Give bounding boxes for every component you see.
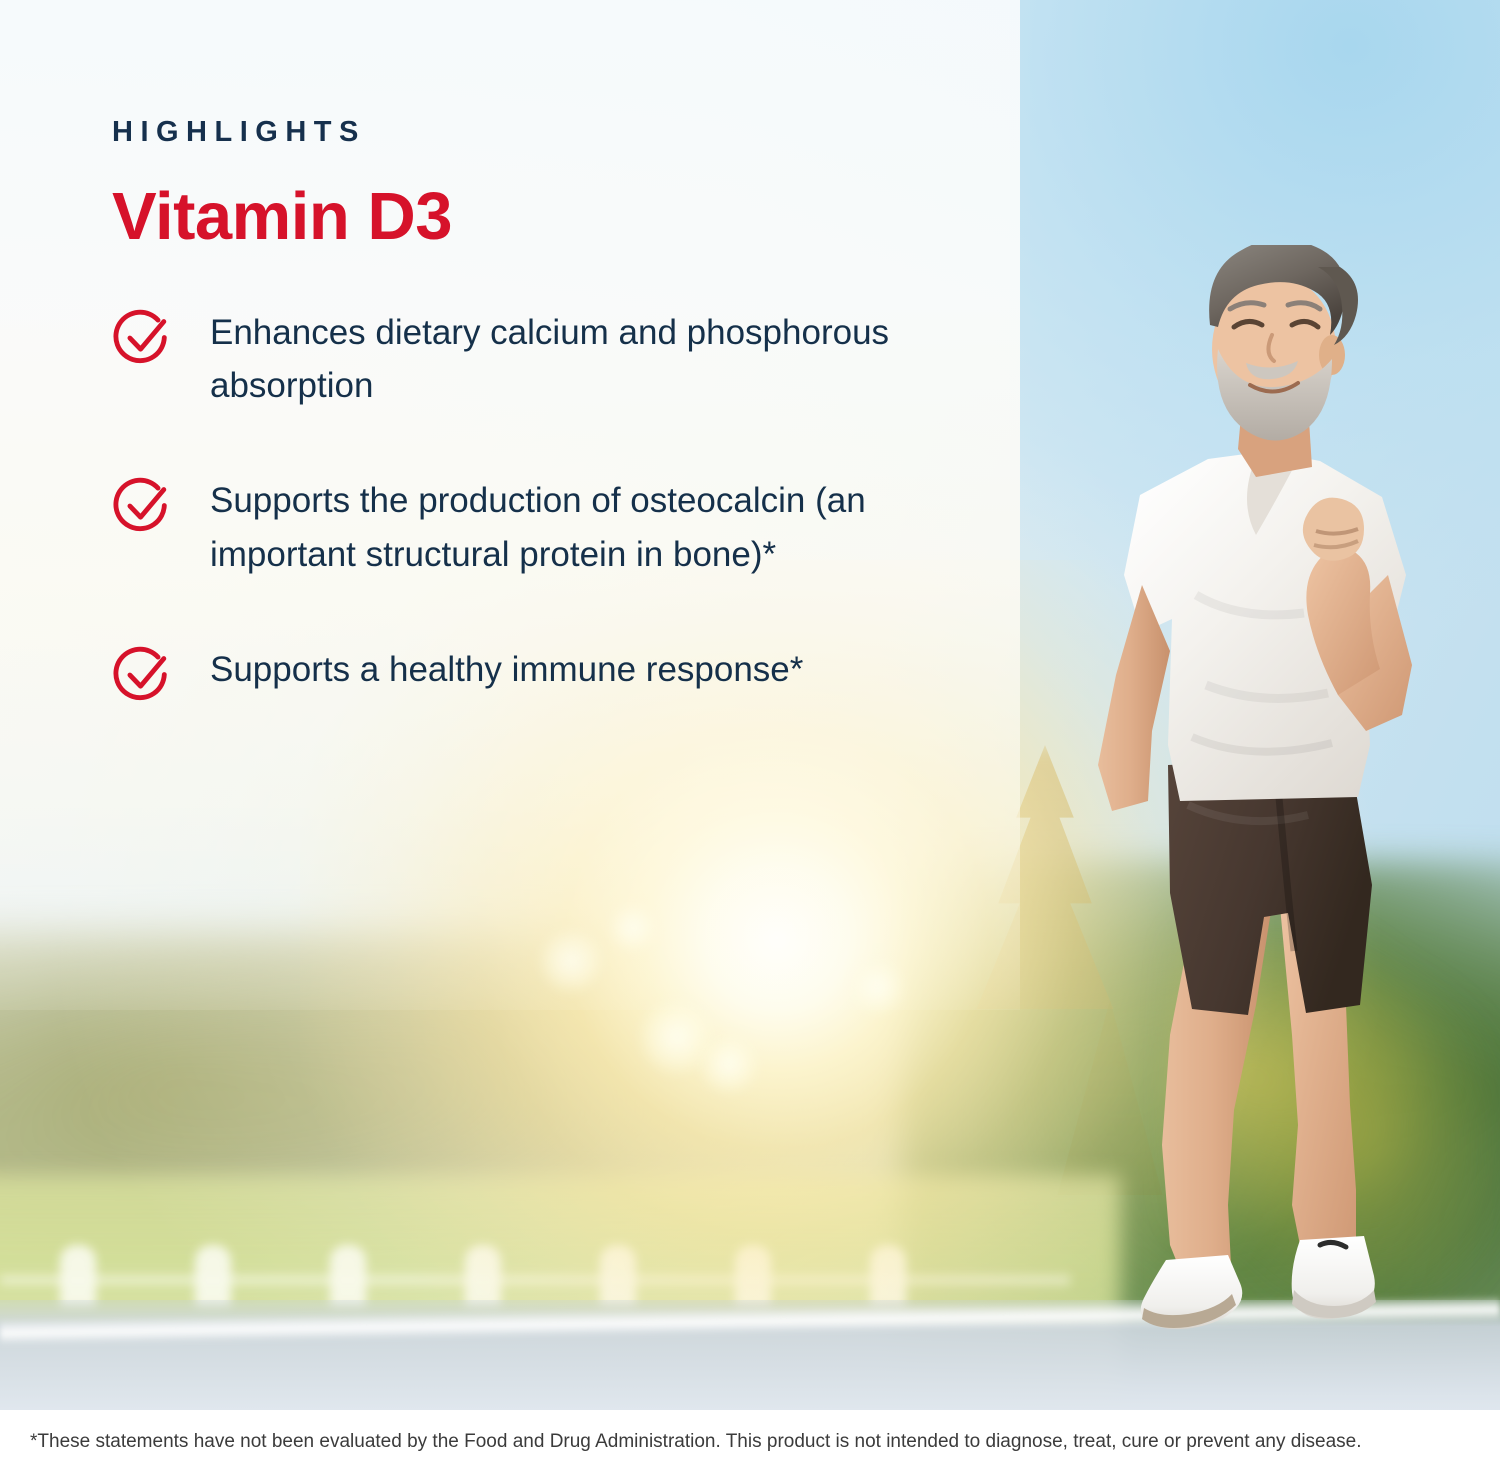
runner-figure bbox=[1020, 245, 1500, 1390]
footer-bar: *These statements have not been evaluate… bbox=[0, 1410, 1500, 1473]
list-item-label: Supports the production of osteocalcin (… bbox=[210, 474, 950, 580]
fence-picket bbox=[600, 1245, 636, 1307]
fence-picket bbox=[870, 1245, 906, 1307]
fence-rail bbox=[0, 1275, 1070, 1285]
list-item: Supports the production of osteocalcin (… bbox=[112, 474, 952, 580]
highlights-list: Enhances dietary calcium and phosphorous… bbox=[112, 306, 952, 707]
list-item: Enhances dietary calcium and phosphorous… bbox=[112, 306, 952, 412]
list-item-label: Supports a healthy immune response* bbox=[210, 643, 803, 696]
fence-picket bbox=[735, 1245, 771, 1307]
check-circle-icon bbox=[112, 308, 174, 370]
eyebrow-label: HIGHLIGHTS bbox=[112, 118, 952, 147]
fence-picket bbox=[195, 1245, 231, 1307]
page-title: Vitamin D3 bbox=[112, 183, 952, 250]
highlights-content: HIGHLIGHTS Vitamin D3 Enhances dietary c… bbox=[112, 118, 952, 707]
fence-picket bbox=[465, 1245, 501, 1307]
check-circle-icon bbox=[112, 476, 174, 538]
fence-picket bbox=[330, 1245, 366, 1307]
product-highlights-poster: HIGHLIGHTS Vitamin D3 Enhances dietary c… bbox=[0, 0, 1500, 1473]
list-item: Supports a healthy immune response* bbox=[112, 643, 952, 707]
list-item-label: Enhances dietary calcium and phosphorous… bbox=[210, 306, 950, 412]
fda-disclaimer: *These statements have not been evaluate… bbox=[0, 1432, 1362, 1451]
fence-picket bbox=[60, 1245, 96, 1307]
check-circle-icon bbox=[112, 645, 174, 707]
